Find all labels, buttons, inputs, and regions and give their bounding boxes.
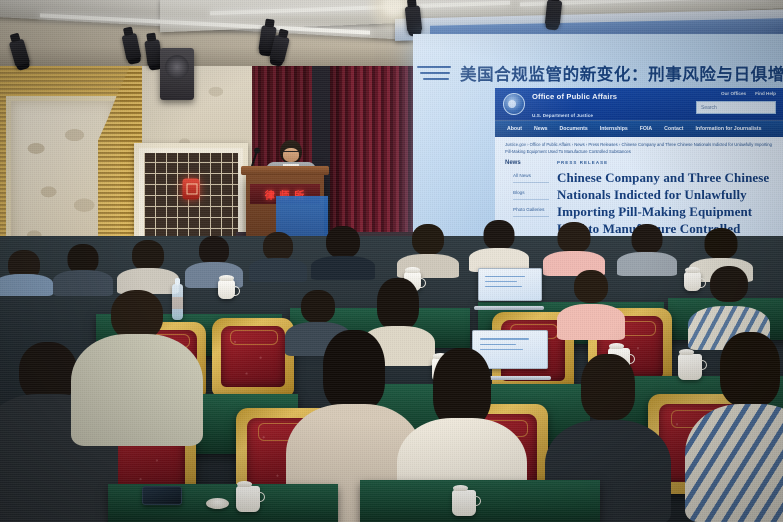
wall-mounted-loudspeaker xyxy=(160,48,194,100)
attendee xyxy=(312,226,374,280)
smartphone[interactable] xyxy=(142,486,182,505)
nav-item-documents[interactable]: Documents xyxy=(560,126,588,132)
attendee-head xyxy=(132,240,164,271)
ceiling-spotlight xyxy=(545,0,563,27)
saucer xyxy=(206,498,229,509)
laptop-base xyxy=(474,306,545,310)
doj-org-subtitle: U.S. Department of Justice xyxy=(532,113,593,118)
teacup-with-lid xyxy=(236,486,260,512)
doj-seal-icon xyxy=(503,93,525,115)
link-find-help[interactable]: Find Help xyxy=(755,91,776,96)
doj-org-titles: Office of Public Affairs U.S. Department… xyxy=(532,88,617,122)
attendee-head xyxy=(199,236,229,265)
attendee-shoulders xyxy=(71,334,203,446)
attendee xyxy=(470,220,528,272)
doj-main-nav: About News Documents Internships FOIA Co… xyxy=(495,120,783,137)
attendee-head xyxy=(412,224,444,255)
attendee-shoulders xyxy=(311,256,375,280)
conference-photo: 美国合规监管的新变化：刑事风险与日俱增 Office of Public Aff… xyxy=(0,0,783,522)
attendee xyxy=(618,224,676,276)
ceiling-spotlight xyxy=(405,5,423,32)
sidebar-item-blogs[interactable]: Blogs xyxy=(513,190,549,200)
attendee-head xyxy=(433,348,491,426)
teacup-with-lid xyxy=(452,490,476,516)
attendee-head xyxy=(558,222,591,253)
attendee-head xyxy=(377,278,419,330)
nav-item-internships[interactable]: Internships xyxy=(600,126,628,132)
teacup-with-lid xyxy=(218,280,235,299)
attendee-head xyxy=(301,290,335,323)
attendee-head xyxy=(705,228,738,259)
doj-org-title: Office of Public Affairs xyxy=(532,92,617,101)
link-our-offices[interactable]: Our Offices xyxy=(721,91,746,96)
attendee-head xyxy=(19,342,77,402)
banquet-chair xyxy=(212,318,294,396)
attendee-shoulders xyxy=(557,304,625,340)
attendee xyxy=(54,244,112,296)
attendee-shoulders xyxy=(685,404,783,522)
attendee-shoulders xyxy=(0,274,53,296)
attendee xyxy=(250,232,306,282)
attendee-head xyxy=(574,270,608,303)
nav-item-contact[interactable]: Contact xyxy=(664,126,683,132)
attendee-head xyxy=(484,220,515,250)
slide-title-row: 美国合规监管的新变化：刑事风险与日俱增 xyxy=(417,58,781,88)
slide-heading: 美国合规监管的新变化：刑事风险与日俱增 xyxy=(460,61,783,85)
attendee-head xyxy=(632,224,663,254)
eyeglasses-icon xyxy=(282,151,300,156)
sidebar-heading: News xyxy=(505,160,549,166)
attendee xyxy=(0,250,52,296)
doj-search-input[interactable]: Search xyxy=(696,101,776,114)
search-placeholder: Search xyxy=(701,105,717,111)
podium-top-surface xyxy=(241,166,329,175)
sidebar-item-all-news[interactable]: All News xyxy=(513,173,549,183)
attendee xyxy=(688,332,783,522)
audience-area xyxy=(0,236,783,522)
attendee xyxy=(558,270,624,340)
red-lantern-ornament xyxy=(183,179,200,200)
press-release-kicker: PRESS RELEASE xyxy=(557,160,773,165)
nav-item-news[interactable]: News xyxy=(534,126,548,132)
laptop[interactable] xyxy=(478,268,540,310)
attendee-shoulders xyxy=(249,258,307,282)
nav-item-about[interactable]: About xyxy=(507,126,522,132)
attendee xyxy=(118,240,178,294)
attendee-head xyxy=(111,290,163,340)
laptop-screen xyxy=(478,268,542,301)
attendee-head xyxy=(720,332,780,406)
attendee-shoulders xyxy=(617,252,677,276)
doj-header: Office of Public Affairs U.S. Department… xyxy=(495,88,783,120)
attendee-head xyxy=(326,226,360,258)
nav-item-information-for-journalists[interactable]: Information for Journalists xyxy=(695,126,761,132)
doj-utility-links: Our Offices Find Help xyxy=(721,91,776,96)
sidebar-item-photo-galleries[interactable]: Photo Galleries xyxy=(513,207,549,217)
breadcrumb: Justice.gov › Office of Public Affairs ›… xyxy=(495,137,783,158)
attendee-head xyxy=(263,232,293,261)
attendee xyxy=(544,222,604,276)
chair-back-slot xyxy=(230,330,278,344)
attendee-head xyxy=(710,266,748,302)
three-bars-icon xyxy=(417,65,451,82)
attendee-head xyxy=(581,354,635,420)
nav-item-foia[interactable]: FOIA xyxy=(640,126,652,132)
attendee-head xyxy=(323,330,385,410)
attendee xyxy=(74,290,200,446)
